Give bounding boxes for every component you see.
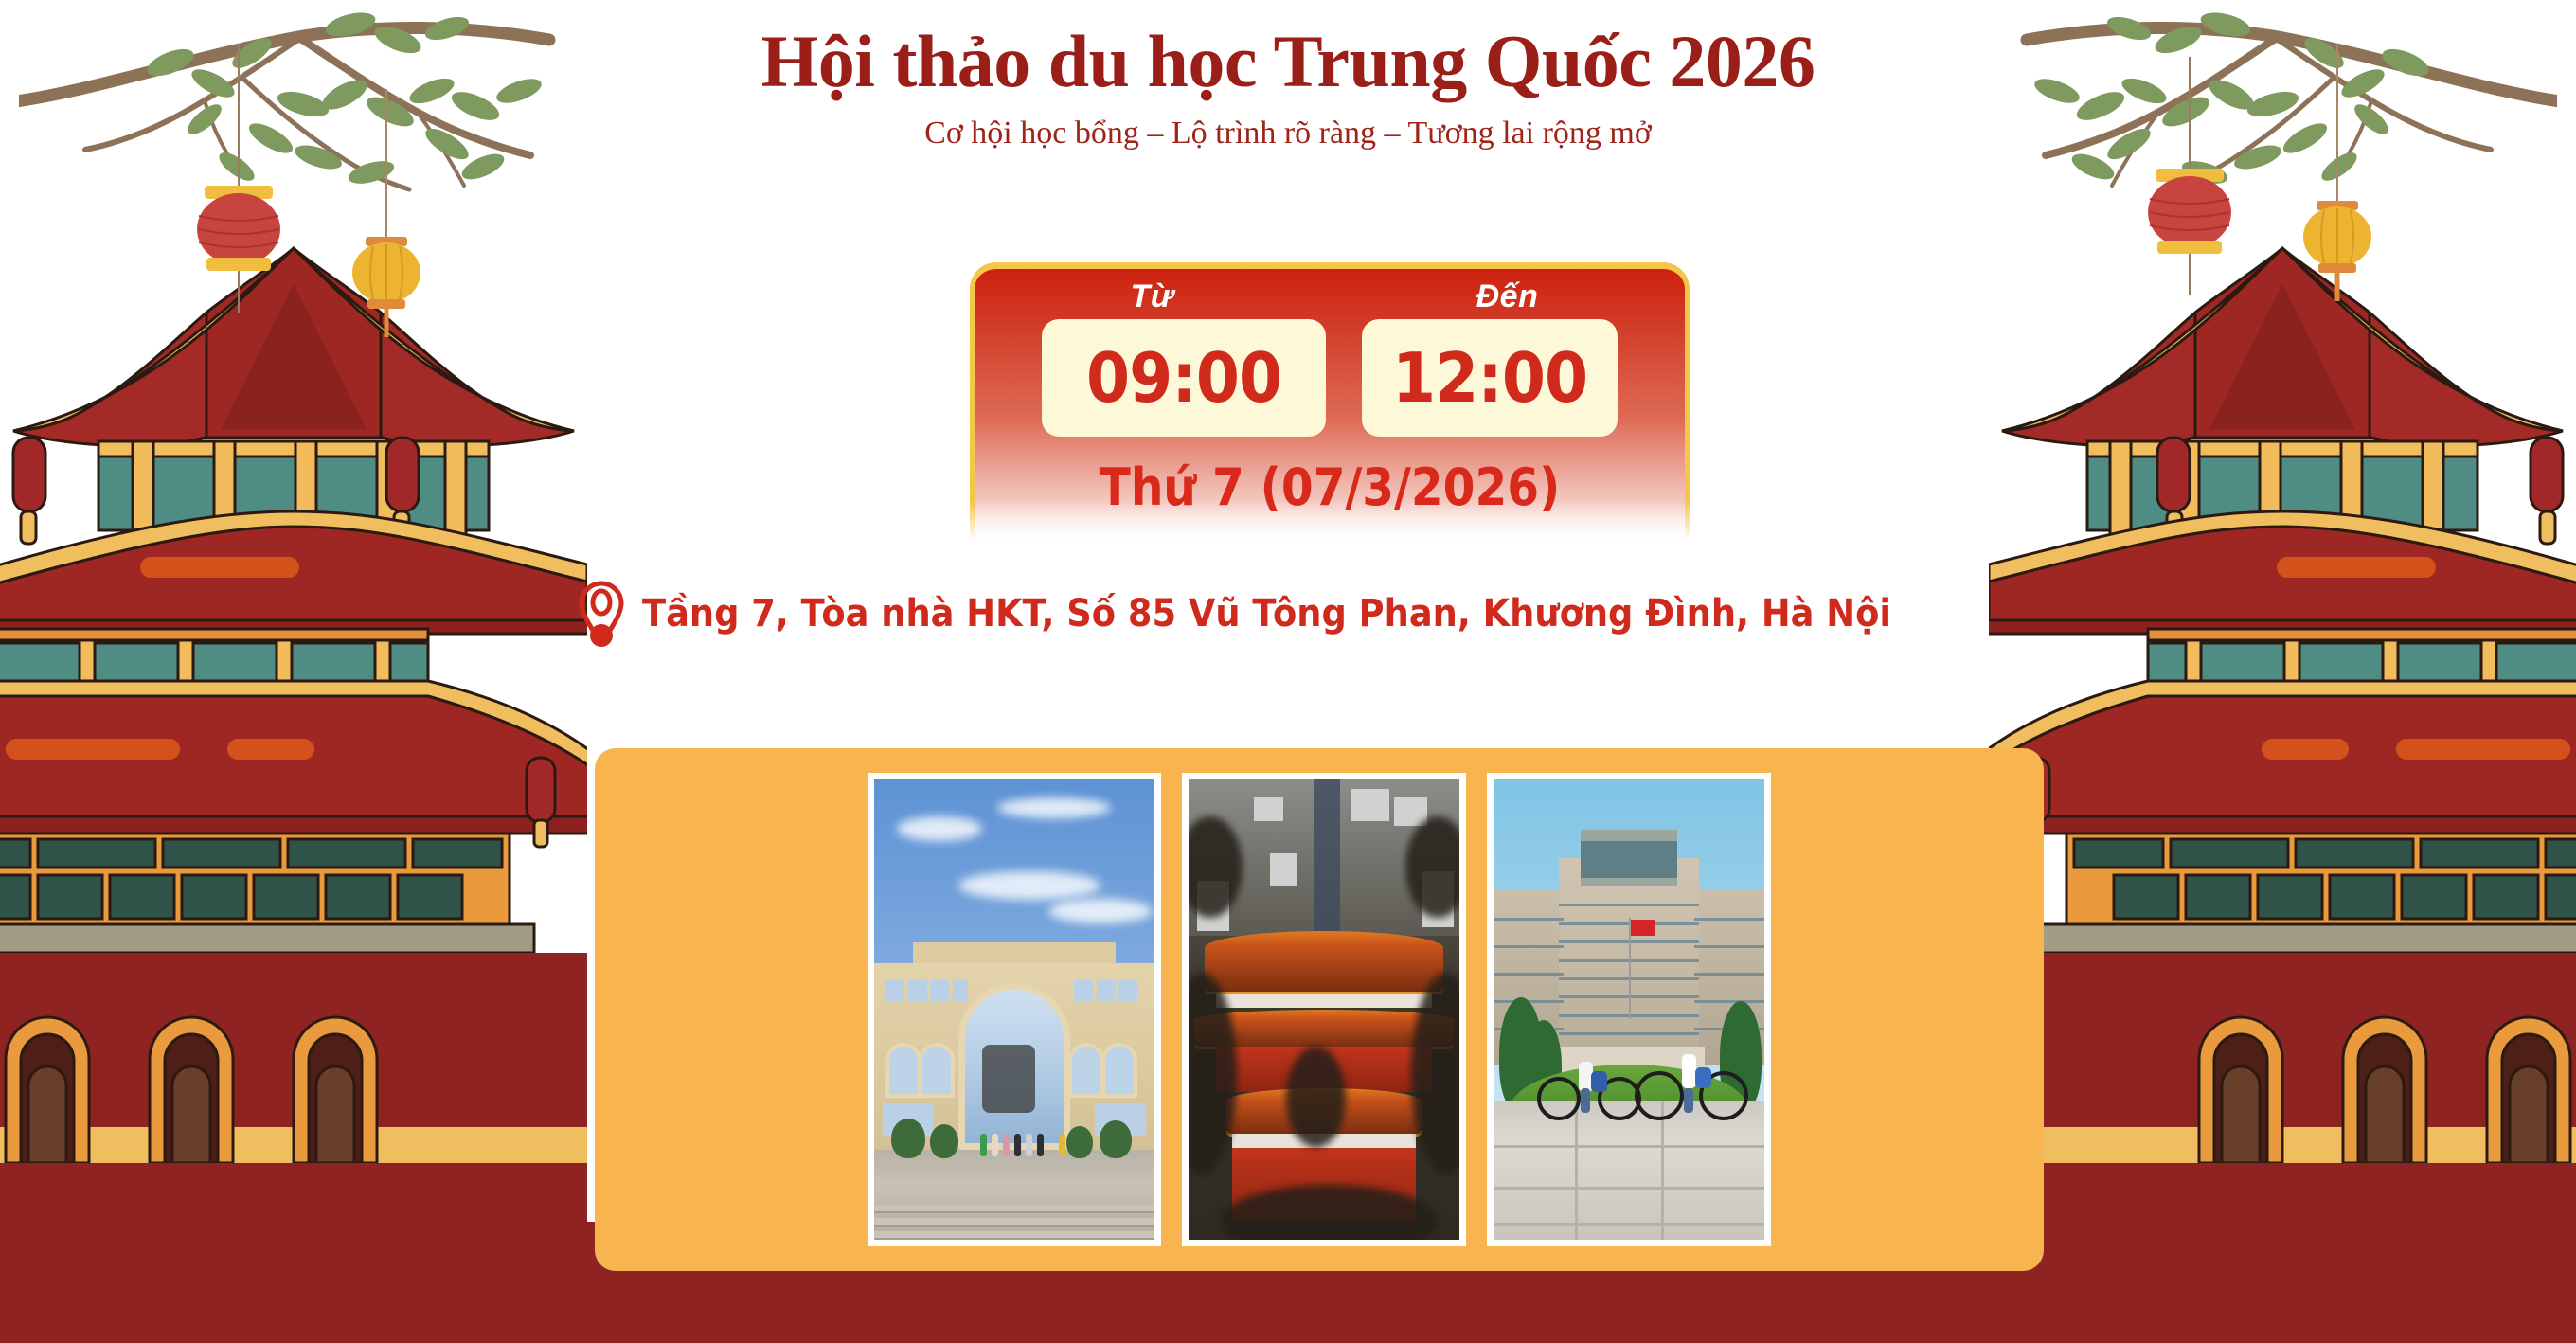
building bbox=[1254, 797, 1283, 820]
address-text: Tầng 7, Tòa nhà HKT, Số 85 Vũ Tông Phan,… bbox=[642, 592, 1891, 636]
window bbox=[908, 980, 927, 1001]
plaza-line bbox=[1494, 1145, 1764, 1148]
window bbox=[930, 980, 949, 1001]
photo-campus-cyclists[interactable] bbox=[1487, 773, 1771, 1246]
photo-aerial-palace[interactable] bbox=[1182, 773, 1466, 1246]
backpack bbox=[1591, 1071, 1607, 1092]
main-arch-window bbox=[958, 983, 1070, 1150]
rooftop-glass bbox=[1581, 841, 1678, 878]
poster-canvas: Hội thảo du học Trung Quốc 2026 Cơ hội h… bbox=[0, 0, 2576, 1343]
flag-pole bbox=[1629, 918, 1631, 1019]
map-pin-icon bbox=[576, 580, 627, 648]
event-time-card: Từ Đến 09:00 12:00 Thứ 7 (07/3/2026) bbox=[970, 262, 1690, 556]
person bbox=[1026, 1134, 1032, 1156]
person bbox=[1003, 1134, 1010, 1156]
cyclist-right bbox=[1635, 1062, 1748, 1120]
poster-header: Hội thảo du học Trung Quốc 2026 Cơ hội h… bbox=[0, 25, 2576, 152]
window bbox=[1118, 980, 1137, 1001]
side-arch-window bbox=[919, 1043, 955, 1098]
window bbox=[953, 980, 968, 1001]
window-row bbox=[1559, 904, 1700, 906]
from-label: Từ bbox=[975, 278, 1330, 315]
to-time-box: 12:00 bbox=[1362, 319, 1618, 437]
window-row bbox=[1694, 918, 1764, 921]
location-row: Tầng 7, Tòa nhà HKT, Số 85 Vũ Tông Phan,… bbox=[0, 580, 2576, 648]
page-title: Hội thảo du học Trung Quốc 2026 bbox=[0, 25, 2576, 98]
street bbox=[1314, 779, 1341, 936]
bike-wheel bbox=[1537, 1077, 1581, 1120]
page-subtitle: Cơ hội học bổng – Lộ trình rõ ràng – Tươ… bbox=[0, 116, 2576, 152]
window-row bbox=[1559, 1032, 1700, 1035]
tree bbox=[1066, 1126, 1093, 1158]
time-boxes-row: 09:00 12:00 bbox=[975, 319, 1685, 437]
person bbox=[1059, 1134, 1065, 1156]
palace-roof bbox=[1205, 931, 1443, 991]
plaza-line bbox=[1494, 1187, 1764, 1190]
tree bbox=[1100, 1120, 1132, 1158]
cloud bbox=[958, 871, 1100, 900]
tree bbox=[930, 1124, 958, 1158]
plaza-line bbox=[1494, 1223, 1764, 1226]
from-time-box: 09:00 bbox=[1042, 319, 1326, 437]
photo-gallery bbox=[595, 748, 2044, 1271]
window bbox=[885, 980, 904, 1001]
backpack bbox=[1695, 1067, 1711, 1088]
plaza-line bbox=[1575, 1101, 1578, 1240]
event-date: Thứ 7 (07/3/2026) bbox=[1011, 457, 1650, 517]
from-time-value: 09:00 bbox=[1086, 338, 1281, 418]
bike-wheel bbox=[1635, 1071, 1684, 1120]
rider-leg bbox=[1684, 1088, 1693, 1113]
side-arch-window bbox=[1068, 1043, 1104, 1098]
window-row bbox=[1694, 1000, 1764, 1003]
cyclist-left bbox=[1537, 1067, 1641, 1120]
window-row bbox=[1694, 945, 1764, 948]
person bbox=[980, 1134, 987, 1156]
cloud bbox=[897, 816, 982, 841]
person bbox=[1037, 1134, 1044, 1156]
time-labels-row: Từ Đến bbox=[975, 269, 1685, 315]
window-row bbox=[1494, 945, 1564, 948]
step bbox=[874, 1218, 1154, 1227]
to-label: Đến bbox=[1330, 278, 1685, 315]
building bbox=[1270, 853, 1297, 886]
rider-torso bbox=[1682, 1054, 1696, 1088]
step bbox=[874, 1231, 1154, 1240]
window bbox=[1074, 980, 1093, 1001]
building bbox=[1351, 789, 1389, 821]
tree-mass bbox=[1286, 1047, 1346, 1148]
plaza bbox=[1494, 1101, 1764, 1240]
window-row bbox=[1494, 918, 1564, 921]
side-arch-window bbox=[885, 1043, 921, 1098]
right-pagoda-illustration bbox=[1989, 0, 2576, 1343]
left-pagoda-illustration bbox=[0, 0, 587, 1343]
photo-university-library[interactable] bbox=[868, 773, 1161, 1246]
side-arch-window bbox=[1101, 1043, 1137, 1098]
window bbox=[1097, 980, 1116, 1001]
to-time-value: 12:00 bbox=[1392, 338, 1587, 418]
person bbox=[1014, 1134, 1021, 1156]
window-row bbox=[1494, 973, 1564, 976]
step bbox=[874, 1205, 1154, 1213]
plaza-line bbox=[1661, 1101, 1664, 1240]
window-row bbox=[1694, 973, 1764, 976]
rider-leg bbox=[1581, 1088, 1590, 1113]
palace-frieze bbox=[1216, 994, 1433, 1008]
tree bbox=[891, 1119, 925, 1158]
person bbox=[992, 1134, 998, 1156]
